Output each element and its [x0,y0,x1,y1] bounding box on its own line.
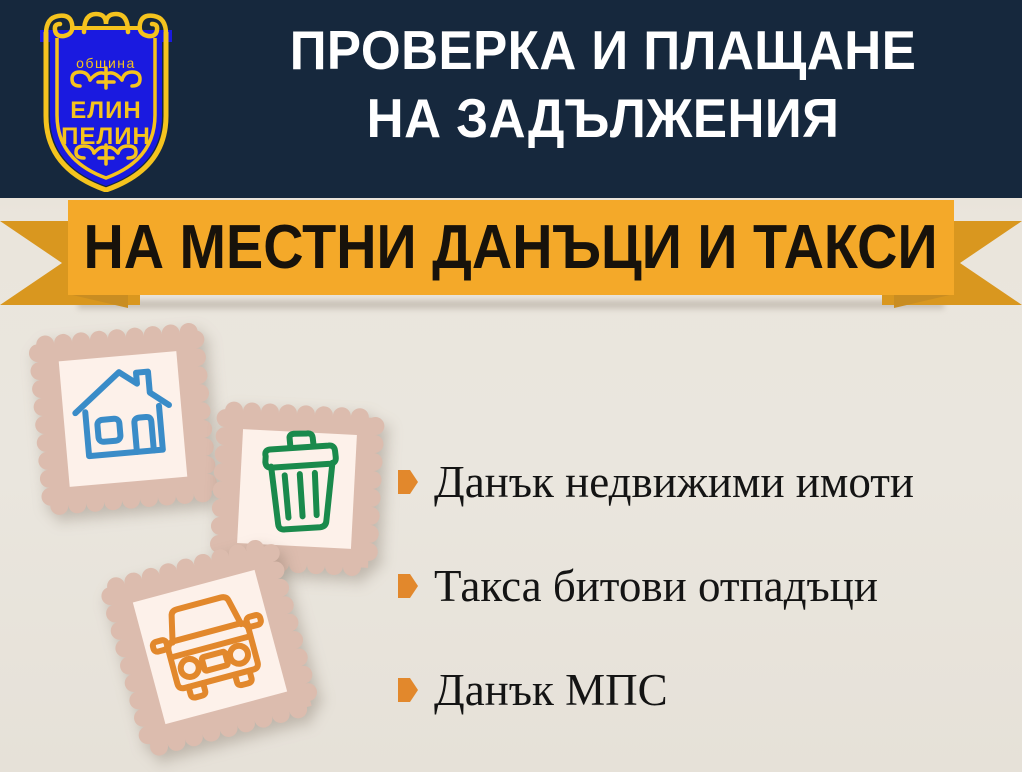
stamp-property-tax [18,312,228,527]
list-item[interactable]: Такса битови отпадъци [398,534,1013,638]
ribbon-subtitle-text: НА МЕСТНИ ДАНЪЦИ И ТАКСИ [84,217,938,279]
page-title-line-1: ПРОВЕРКА И ПЛАЩАНЕ [224,16,981,84]
stamp-vehicle-tax [95,528,325,766]
arrow-bullet-icon [398,678,418,702]
list-item[interactable]: Данък МПС [398,638,1013,742]
page-title-line-2: НА ЗАДЪЛЖЕНИЯ [224,84,981,152]
poster-canvas: община ЕЛИН ПЕЛИН ПРОВЕРКА И ПЛАЩА [0,0,1022,772]
subtitle-ribbon: НА МЕСТНИ ДАНЪЦИ И ТАКСИ [0,200,1022,310]
crest-name-line1: ЕЛИН [70,97,141,124]
list-item-label: Данък недвижими имоти [434,457,914,507]
arrow-bullet-icon [398,470,418,494]
list-item-label: Данък МПС [434,665,668,715]
municipality-crest-logo: община ЕЛИН ПЕЛИН [22,8,190,192]
tax-type-list: Данък недвижими имоти Такса битови отпад… [398,430,1013,742]
ribbon-panel: НА МЕСТНИ ДАНЪЦИ И ТАКСИ [68,200,954,295]
arrow-bullet-icon [398,574,418,598]
list-item[interactable]: Данък недвижими имоти [398,430,1013,534]
list-item-label: Такса битови отпадъци [434,561,878,611]
header-title-block: ПРОВЕРКА И ПЛАЩАНЕ НА ЗАДЪЛЖЕНИЯ [196,16,1010,152]
